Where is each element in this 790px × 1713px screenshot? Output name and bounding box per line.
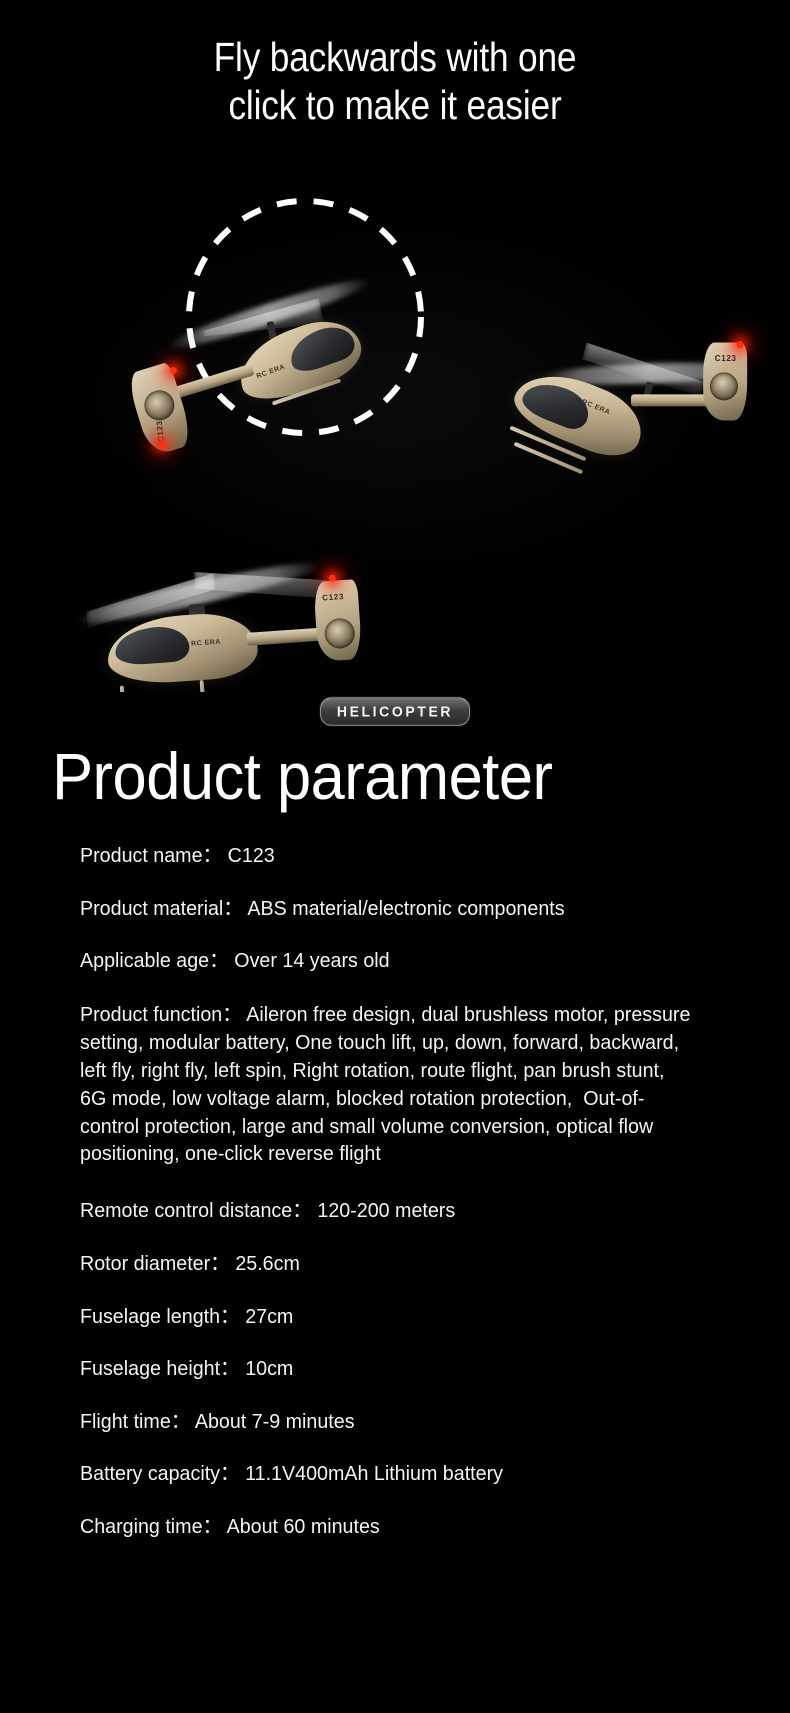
fin-marking: C123	[715, 354, 737, 363]
headline-line-2: click to make it easier	[55, 82, 734, 130]
spec-key: Battery capacity：	[80, 1462, 240, 1485]
spec-key: Product name：	[80, 844, 222, 867]
spec-value: Aileron free design, dual brushless moto…	[80, 1003, 696, 1165]
spec-row: Rotor diameter： 25.6cm	[80, 1251, 694, 1278]
spec-row: Product material： ABS material/electroni…	[80, 896, 694, 923]
fin-marking: C123	[322, 592, 345, 603]
spec-row: Product name： C123	[80, 843, 694, 870]
spec-value: Over 14 years old	[229, 949, 390, 972]
helicopter-badge: HELICOPTER	[320, 697, 470, 726]
helicopter-bottom: RC ERA C123	[64, 531, 395, 692]
spec-key: Flight time：	[80, 1410, 190, 1433]
spec-value: About 60 minutes	[222, 1515, 380, 1538]
spec-value: ABS material/electronic components	[243, 897, 565, 920]
spec-value: 11.1V400mAh Lithium battery	[240, 1462, 503, 1485]
page-headline: Fly backwards with one click to make it …	[55, 0, 734, 129]
spec-value: 120-200 meters	[312, 1199, 455, 1222]
hero-product-image: RC ERA C123 RC ERA C123 RC ERA	[0, 147, 790, 692]
spec-key: Product material：	[80, 897, 243, 920]
cockpit-canopy	[114, 625, 190, 666]
spec-row: Fuselage height： 10cm	[80, 1356, 694, 1383]
spec-value: 25.6cm	[230, 1252, 300, 1275]
spec-key: Rotor diameter：	[80, 1252, 230, 1275]
spec-row: Charging time： About 60 minutes	[80, 1514, 694, 1541]
spec-key: Fuselage length：	[80, 1305, 240, 1328]
spec-value: C123	[222, 844, 275, 867]
headline-line-1: Fly backwards with one	[55, 34, 734, 82]
spec-key: Fuselage height：	[80, 1357, 240, 1380]
navigation-led	[169, 366, 177, 374]
spec-row: Product function： Aileron free design, d…	[80, 1001, 694, 1168]
spec-row: Battery capacity： 11.1V400mAh Lithium ba…	[80, 1461, 694, 1488]
spec-row: Fuselage length： 27cm	[80, 1304, 694, 1331]
product-parameter-list: Product name： C123Product material： ABS …	[0, 843, 790, 1541]
landing-skid	[200, 680, 205, 692]
landing-skid	[120, 686, 125, 692]
spec-row: Remote control distance： 120-200 meters	[80, 1198, 694, 1225]
spec-row: Flight time： About 7-9 minutes	[80, 1409, 694, 1436]
spec-value: 27cm	[240, 1305, 294, 1328]
spec-key: Product function：	[80, 1003, 242, 1026]
spec-key: Applicable age：	[80, 949, 229, 972]
page-title: Product parameter	[0, 743, 735, 809]
spec-key: Remote control distance：	[80, 1199, 312, 1222]
helicopter-badge-container: HELICOPTER	[0, 698, 790, 725]
spec-value: About 7-9 minutes	[190, 1410, 354, 1433]
spec-key: Charging time：	[80, 1515, 222, 1538]
spec-value: 10cm	[240, 1357, 294, 1380]
landing-skid	[514, 442, 584, 475]
spec-row: Applicable age： Over 14 years old	[80, 948, 694, 975]
fin-marking: C123	[155, 420, 166, 443]
